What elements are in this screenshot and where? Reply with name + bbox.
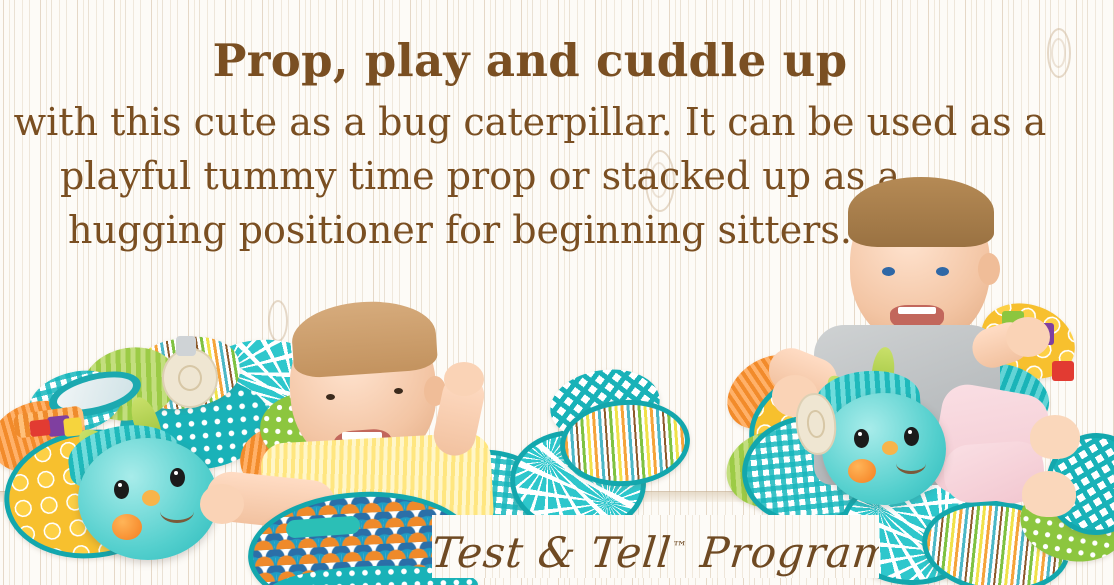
baby-eye-right	[936, 267, 949, 276]
nose-icon	[142, 490, 160, 506]
baby-eye-left	[882, 267, 895, 276]
description-line-1: with this cute as a bug caterpillar. It …	[0, 95, 1060, 149]
test-and-tell-banner: Test & Tell™ Program	[432, 515, 879, 578]
smile-icon	[896, 453, 926, 474]
banner-program-name-1: Test & Tell	[432, 528, 674, 577]
page-title: Prop, play and cuddle up	[0, 0, 1060, 83]
baby-eye-left	[326, 394, 335, 400]
ribbon-red	[29, 419, 51, 437]
baby-hand-right	[1006, 317, 1050, 357]
eye-right-icon	[170, 468, 185, 487]
caterpillar-head	[78, 438, 218, 560]
eye-left-icon	[114, 480, 129, 499]
cheek-left-icon	[848, 459, 876, 483]
teether-tag-icon	[162, 348, 218, 408]
ribbon-red	[1052, 361, 1074, 381]
trademark-symbol: ™	[671, 538, 688, 556]
baby-foot-left	[1022, 471, 1076, 517]
banner-text: Test & Tell™ Program	[432, 519, 879, 578]
baby-teeth	[898, 307, 936, 314]
eye-right-icon	[904, 427, 919, 446]
caterpillar-head	[822, 393, 946, 505]
eye-left-icon	[854, 429, 869, 448]
baby-ear	[978, 253, 1000, 285]
baby-hair	[848, 177, 994, 247]
baby-hand-right	[444, 362, 484, 396]
baby-foot-right	[1030, 415, 1080, 459]
baby-eye-right	[394, 388, 403, 394]
banner-program-name-2: Program	[698, 528, 879, 577]
promo-banner: Prop, play and cuddle up with this cute …	[0, 0, 1114, 585]
baby-hand-left	[200, 484, 244, 524]
cheek-left-icon	[112, 514, 142, 540]
tag-clip-icon	[176, 336, 196, 356]
smile-icon	[160, 500, 194, 523]
